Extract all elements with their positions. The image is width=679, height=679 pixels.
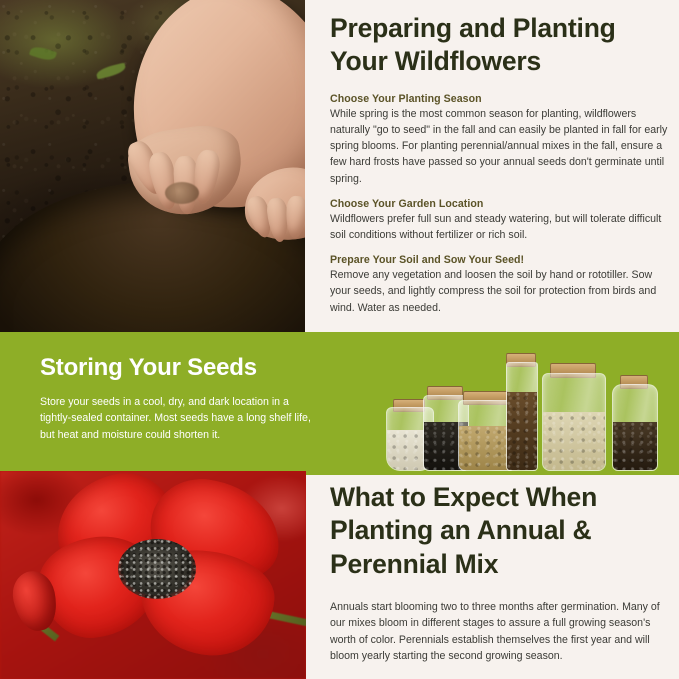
- preparing-text-column: Preparing and Planting Your Wildflowers …: [330, 0, 670, 332]
- jar-tall-brown-seeds: [506, 353, 536, 471]
- body-prepare-soil: Remove any vegetation and loosen the soi…: [330, 267, 670, 316]
- body-garden-location: Wildflowers prefer full sun and steady w…: [330, 211, 670, 243]
- jar-contents: [507, 392, 537, 470]
- poppy-stamen-texture: [118, 539, 196, 599]
- section-preparing-and-planting: Preparing and Planting Your Wildflowers …: [0, 0, 679, 332]
- subheading-prepare-soil: Prepare Your Soil and Sow Your Seed!: [330, 254, 670, 266]
- poppy-stamen-center: [118, 539, 196, 599]
- infographic-page: Preparing and Planting Your Wildflowers …: [0, 0, 679, 679]
- jar-glass: [542, 373, 606, 471]
- page-title-preparing: Preparing and Planting Your Wildflowers: [330, 0, 670, 79]
- page-title-storing: Storing Your Seeds: [40, 354, 257, 382]
- block-prepare-soil: Prepare Your Soil and Sow Your Seed! Rem…: [330, 254, 670, 316]
- section-what-to-expect: What to Expect When Planting an Annual &…: [0, 471, 679, 679]
- red-poppy-flower-closeup-photo: [0, 471, 306, 679]
- jar-contents: [613, 422, 657, 470]
- jar-dark-seeds-right: [612, 375, 656, 471]
- subheading-garden-location: Choose Your Garden Location: [330, 198, 670, 210]
- jar-glass: [506, 362, 538, 471]
- page-title-what-to-expect: What to Expect When Planting an Annual &…: [330, 471, 668, 581]
- section-storing-your-seeds: Storing Your Seeds Store your seeds in a…: [0, 332, 679, 471]
- seeds-in-hand: [165, 182, 199, 204]
- jar-contents: [543, 412, 605, 470]
- block-garden-location: Choose Your Garden Location Wildflowers …: [330, 198, 670, 243]
- glass-jars-with-cork-lids-filled-with-seeds-photo: [386, 346, 672, 471]
- jar-glass: [612, 384, 658, 471]
- block-planting-season: Choose Your Planting Season While spring…: [330, 93, 670, 187]
- body-planting-season: While spring is the most common season f…: [330, 106, 670, 187]
- body-what-to-expect: Annuals start blooming two to three mont…: [330, 599, 668, 664]
- hands-planting-seeds-in-soil-photo: [0, 0, 305, 332]
- subheading-planting-season: Choose Your Planting Season: [330, 93, 670, 105]
- expect-text-column: What to Expect When Planting an Annual &…: [330, 471, 668, 679]
- jar-cream-seeds-large: [542, 363, 604, 471]
- body-storing: Store your seeds in a cool, dry, and dar…: [40, 394, 312, 443]
